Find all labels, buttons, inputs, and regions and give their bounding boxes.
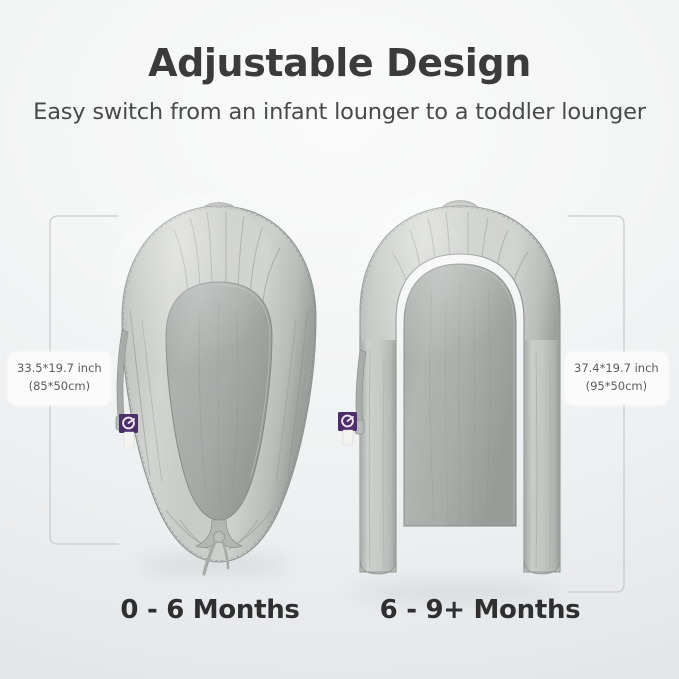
product-image-toddler-lounger xyxy=(336,190,584,600)
infographic-canvas: Adjustable Design Easy switch from an in… xyxy=(0,0,679,679)
dimension-right-cm: (95*50cm) xyxy=(574,378,659,396)
header: Adjustable Design Easy switch from an in… xyxy=(0,0,679,125)
caption-infant-lounger: 0 - 6 Months xyxy=(60,595,360,625)
dimension-label-right: 37.4*19.7 inch (95*50cm) xyxy=(565,352,668,405)
dimension-label-left: 33.5*19.7 inch (85*50cm) xyxy=(8,352,111,405)
product-image-infant-lounger xyxy=(104,190,334,580)
brand-tag-left xyxy=(119,414,138,448)
brand-tag-right xyxy=(338,412,357,445)
dimension-left-inches: 33.5*19.7 inch xyxy=(17,360,102,378)
dimension-left-cm: (85*50cm) xyxy=(17,378,102,396)
page-title: Adjustable Design xyxy=(0,0,679,82)
caption-toddler-lounger: 6 - 9+ Months xyxy=(330,595,630,625)
page-subtitle: Easy switch from an infant lounger to a … xyxy=(0,82,679,125)
dimension-right-inches: 37.4*19.7 inch xyxy=(574,360,659,378)
